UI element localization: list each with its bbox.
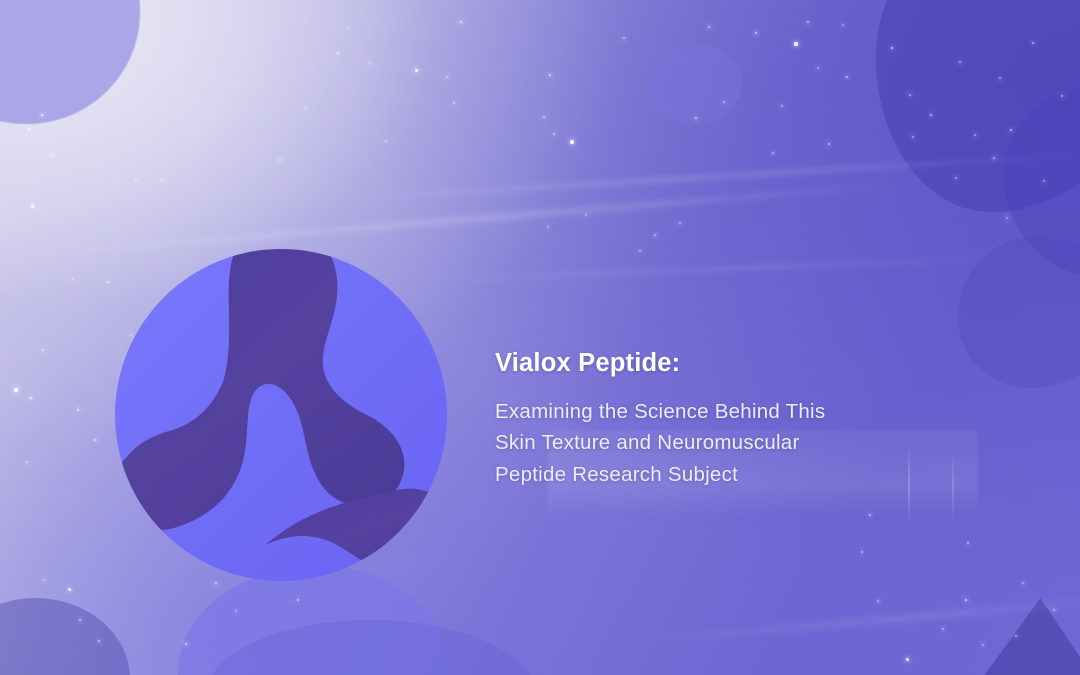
star-dot xyxy=(31,205,34,208)
star-dot xyxy=(51,154,53,156)
star-dot xyxy=(305,107,307,109)
star-dot xyxy=(68,588,71,591)
star-dot xyxy=(772,152,774,154)
star-dot xyxy=(906,658,909,661)
star-dot xyxy=(708,26,710,28)
star-dot xyxy=(807,21,809,23)
star-dot xyxy=(755,32,758,35)
decorative-peak-bottom-right xyxy=(978,598,1080,675)
hero-subtitle: Examining the Science Behind This Skin T… xyxy=(495,396,965,491)
hero-subtitle-line-3: Peptide Research Subject xyxy=(495,459,965,491)
star-dot xyxy=(817,67,819,69)
star-dot xyxy=(1053,609,1055,611)
star-dot xyxy=(347,27,349,29)
star-dot xyxy=(94,439,96,441)
star-dot xyxy=(553,133,555,135)
star-dot xyxy=(453,102,455,104)
star-dot xyxy=(446,76,448,78)
star-dot xyxy=(842,24,844,26)
star-dot xyxy=(794,42,797,45)
hero-copy: Vialox Peptide: Examining the Science Be… xyxy=(495,348,965,490)
star-dot xyxy=(942,628,944,630)
star-dot xyxy=(547,226,549,228)
star-dot xyxy=(279,159,281,161)
hero-title: Vialox Peptide: xyxy=(495,348,965,379)
star-dot xyxy=(72,278,74,280)
brand-logo xyxy=(111,245,451,589)
star-dot xyxy=(14,388,17,391)
star-dot xyxy=(161,179,163,181)
star-dot xyxy=(43,579,45,581)
star-dot xyxy=(654,234,656,236)
decorative-blob-top-left xyxy=(0,0,140,124)
star-dot xyxy=(1022,582,1024,584)
hero-subtitle-line-2: Skin Texture and Neuromuscular xyxy=(495,427,965,459)
star-dot xyxy=(781,105,783,107)
star-dot xyxy=(135,179,137,181)
star-dot xyxy=(982,644,984,646)
star-dot xyxy=(828,143,830,145)
star-dot xyxy=(623,37,625,39)
star-dot xyxy=(1006,217,1008,219)
star-dot xyxy=(585,214,587,216)
star-dot xyxy=(26,461,28,463)
star-dot xyxy=(30,397,32,399)
star-dot xyxy=(877,600,879,602)
decorative-blob-bottom-left xyxy=(0,598,130,675)
star-dot xyxy=(28,128,31,131)
star-dot xyxy=(385,140,387,142)
star-dot xyxy=(967,542,969,544)
decorative-blob-right-lower xyxy=(958,236,1080,388)
article-hero-banner: Vialox Peptide: Examining the Science Be… xyxy=(0,0,1080,675)
star-dot xyxy=(861,551,863,553)
star-dot xyxy=(549,74,552,77)
star-dot xyxy=(369,62,371,64)
decorative-blob-top-middle xyxy=(646,44,742,124)
star-dot xyxy=(415,69,418,72)
star-dot xyxy=(77,409,80,412)
star-dot xyxy=(460,21,463,24)
star-dot xyxy=(42,349,44,351)
star-dot xyxy=(679,222,681,224)
star-dot xyxy=(570,140,574,144)
star-dot xyxy=(543,116,545,118)
star-dot xyxy=(337,52,340,55)
star-dot xyxy=(846,76,848,78)
star-dot xyxy=(965,599,968,602)
hero-subtitle-line-1: Examining the Science Behind This xyxy=(495,396,965,428)
star-dot xyxy=(107,281,109,283)
star-dot xyxy=(639,250,641,252)
